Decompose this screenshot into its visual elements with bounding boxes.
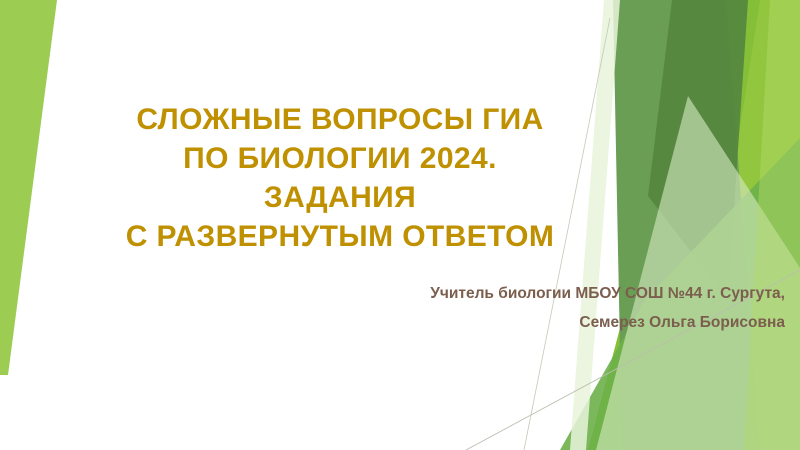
page-title: СЛОЖНЫЕ ВОПРОСЫ ГИА ПО БИОЛОГИИ 2024. ЗА…: [40, 100, 640, 256]
title-line-3: ЗАДАНИЯ: [40, 178, 640, 217]
slide-subtitle: Учитель биологии МБОУ СОШ №44 г. Сургута…: [300, 280, 785, 337]
title-line-2: ПО БИОЛОГИИ 2024.: [40, 139, 640, 178]
title-line-1: СЛОЖНЫЕ ВОПРОСЫ ГИА: [40, 100, 640, 139]
light-green-wash: [744, 0, 800, 450]
subtitle-line-2: Семерез Ольга Борисовна: [300, 309, 785, 338]
dark-green-triangle: [648, 0, 748, 300]
presentation-slide: СЛОЖНЫЕ ВОПРОСЫ ГИА ПО БИОЛОГИИ 2024. ЗА…: [0, 0, 800, 450]
title-line-4: С РАЗВЕРНУТЫМ ОТВЕТОМ: [40, 217, 640, 256]
subtitle-line-1: Учитель биологии МБОУ СОШ №44 г. Сургута…: [300, 280, 785, 309]
right-lime-slab: [654, 0, 800, 450]
